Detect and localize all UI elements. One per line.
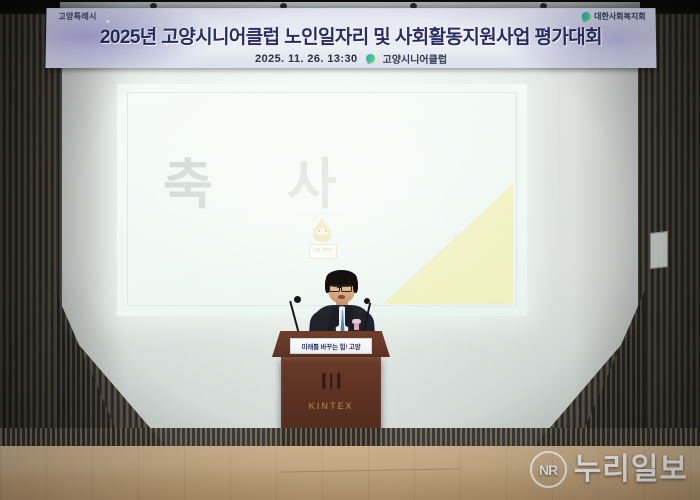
mascot-eye: [318, 230, 320, 232]
banner-org-left: 고양특례시: [58, 11, 96, 22]
nuri-ilbo-logo-icon: NR: [530, 451, 567, 488]
banner-subline: 2025. 11. 26. 13:30 고양시니어클럽: [46, 51, 657, 66]
podium-slogan-sign: 미래를 바꾸는 힘! 고양: [290, 338, 372, 354]
banner-org-right-label: 대한사회복지회: [594, 11, 646, 22]
banner-date: 2025. 11. 26. 13:30: [255, 53, 358, 65]
banner-title: 2025년 고양시니어클럽 노인일자리 및 사회활동지원사업 평가대회: [46, 22, 656, 49]
speaker-mouth: [338, 295, 345, 299]
mascot-label-text: 고양 캐릭터: [310, 248, 336, 253]
podium-slit: [337, 373, 340, 389]
speaker-ribbon-badge: [352, 319, 361, 330]
watermark: NR 누리일보: [530, 451, 688, 488]
glasses-icon: [341, 285, 352, 292]
slide-word-2: 사: [287, 158, 339, 212]
microphone-icon: [364, 298, 370, 304]
ribbon-tail: [354, 323, 359, 330]
event-banner: 고양특례시 대한사회복지회 2025년 고양시니어클럽 노인일자리 및 사회활동…: [45, 8, 656, 68]
swirl-leaf-logo-icon: [364, 53, 376, 65]
slide-word-1: 축: [163, 158, 215, 212]
mascot-drop-icon: 고양 캐릭터: [309, 218, 335, 266]
podium-brand-text: KINTEX: [281, 401, 381, 411]
podium-slit: [322, 373, 325, 389]
podium-slogan-text: 미래를 바꾸는 힘! 고양: [302, 341, 361, 351]
banner-club-label: 고양시니어클럽: [383, 51, 448, 66]
mascot-label-plate: 고양 캐릭터: [309, 244, 337, 259]
glasses-bridge: [337, 287, 341, 288]
baseboard-slats: [0, 428, 700, 448]
microphone-icon: [294, 296, 301, 303]
wall-switch-panel: [650, 231, 668, 269]
podium-slit: [330, 373, 333, 389]
podium-vent-slits: [322, 373, 340, 389]
watermark-text: 누리일보: [574, 455, 688, 485]
mascot-eye: [325, 230, 327, 232]
swirl-leaf-logo-icon: [581, 11, 593, 22]
speaker-hair-side: [353, 278, 358, 293]
photo-scene: 고양특례시 대한사회복지회 2025년 고양시니어클럽 노인일자리 및 사회활동…: [0, 0, 700, 500]
banner-org-right: 대한사회복지회: [582, 11, 646, 22]
